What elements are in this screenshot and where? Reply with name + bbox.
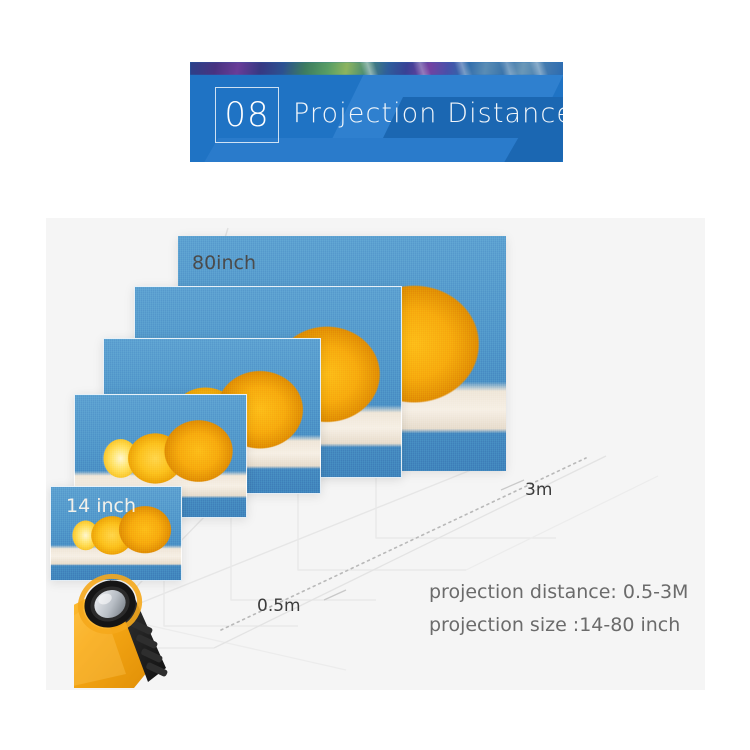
banner-number-box: 08 [215, 87, 279, 143]
banner-photo-streaks [190, 62, 563, 75]
diagram-panel: 80inch 14 inch 0.5m 3m pro [46, 218, 705, 690]
banner-number: 08 [224, 98, 269, 132]
banner-title: Projection Distance [293, 98, 563, 129]
spec-projection-distance: projection distance: 0.5-3M [429, 581, 688, 603]
spec-projection-size: projection size :14-80 inch [429, 614, 680, 636]
page-root: 08 Projection Distance [0, 0, 750, 750]
screen-label-14-inch: 14 inch [66, 495, 136, 517]
screen-label-80-inch: 80inch [192, 252, 256, 274]
section-header-banner: 08 Projection Distance [190, 62, 563, 162]
distance-label-near: 0.5m [257, 596, 301, 616]
distance-label-far: 3m [525, 480, 552, 500]
projector-device [74, 570, 194, 690]
